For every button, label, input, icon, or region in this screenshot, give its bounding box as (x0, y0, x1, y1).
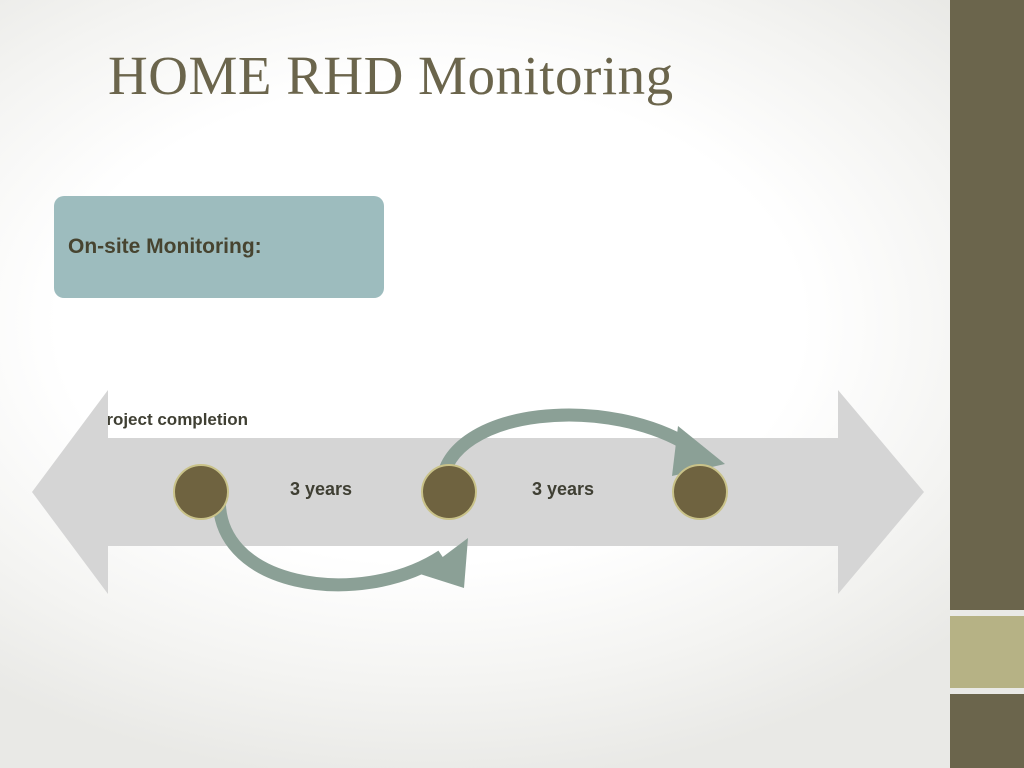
milestone-node-3 (672, 464, 728, 520)
milestone-node-1 (173, 464, 229, 520)
milestone-node-2 (421, 464, 477, 520)
on-site-monitoring-callout: On-site Monitoring: (54, 196, 384, 298)
interval-label-2: 3 years (532, 479, 594, 500)
right-rail-top (950, 0, 1024, 610)
callout-label: On-site Monitoring: (68, 235, 262, 259)
right-rail-bottom (950, 694, 1024, 768)
right-rail-middle (950, 616, 1024, 688)
slide-canvas: HOME RHD Monitoring On-site Monitoring: … (0, 0, 1024, 768)
page-title: HOME RHD Monitoring (108, 44, 674, 107)
interval-label-1: 3 years (290, 479, 352, 500)
